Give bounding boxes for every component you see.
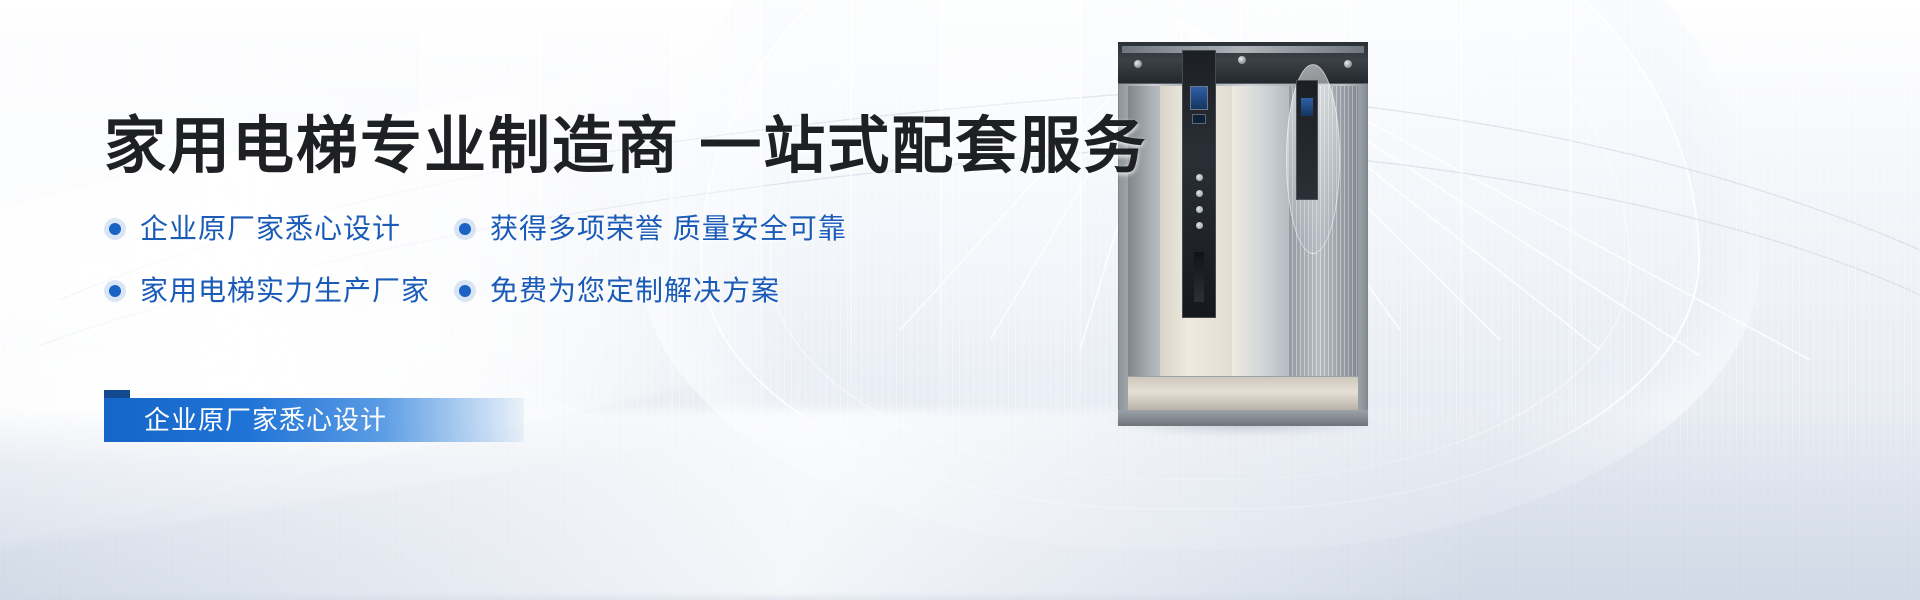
elevator-floor-tile xyxy=(1128,376,1358,410)
elevator-cabin-image xyxy=(1118,42,1368,412)
bullet-dot-icon xyxy=(454,280,476,302)
feature-label: 免费为您定制解决方案 xyxy=(490,274,780,308)
elevator-floor-button xyxy=(1196,222,1203,229)
elevator-base xyxy=(1118,410,1368,426)
elevator-floor-button xyxy=(1196,206,1203,213)
elevator-floor-button xyxy=(1196,174,1203,181)
elevator-panel-strip xyxy=(1194,252,1204,302)
page-title: 家用电梯专业制造商 一站式配套服务 xyxy=(104,112,1147,182)
bullet-dot-icon xyxy=(454,218,476,240)
bullet-dot-icon xyxy=(104,280,126,302)
elevator-display-screen xyxy=(1190,86,1208,110)
elevator-indicator-screen xyxy=(1192,114,1206,124)
elevator-bolt-icon xyxy=(1238,56,1246,64)
feature-label: 获得多项荣誉 质量安全可靠 xyxy=(490,212,847,246)
feature-item-1: 企业原厂家悉心设计 xyxy=(104,212,454,246)
feature-item-4: 免费为您定制解决方案 xyxy=(454,274,780,308)
elevator-bolt-icon xyxy=(1134,60,1142,68)
tag-label: 企业原厂家悉心设计 xyxy=(144,405,387,435)
elevator-bolt-icon xyxy=(1344,60,1352,68)
feature-item-3: 家用电梯实力生产厂家 xyxy=(104,274,454,308)
feature-list: 企业原厂家悉心设计 获得多项荣誉 质量安全可靠 家用电梯实力生产厂家 xyxy=(104,212,944,336)
bullet-dot-icon xyxy=(104,218,126,240)
highlight-tag: 企业原厂家悉心设计 xyxy=(104,398,524,442)
elevator-top-trim xyxy=(1122,46,1364,53)
feature-row: 企业原厂家悉心设计 获得多项荣誉 质量安全可靠 xyxy=(104,212,944,246)
tag-ribbon: 企业原厂家悉心设计 xyxy=(104,398,524,442)
feature-row: 家用电梯实力生产厂家 免费为您定制解决方案 xyxy=(104,274,944,308)
feature-label: 企业原厂家悉心设计 xyxy=(140,212,401,246)
elevator-floor-button xyxy=(1196,190,1203,197)
hero-banner: 家用电梯专业制造商 一站式配套服务 企业原厂家悉心设计 获得多项荣誉 质量安全可… xyxy=(0,0,1920,600)
elevator-secondary-display xyxy=(1301,98,1313,116)
feature-item-2: 获得多项荣誉 质量安全可靠 xyxy=(454,212,847,246)
feature-label: 家用电梯实力生产厂家 xyxy=(140,274,430,308)
banner-content: 家用电梯专业制造商 一站式配套服务 企业原厂家悉心设计 获得多项荣誉 质量安全可… xyxy=(0,0,1100,600)
